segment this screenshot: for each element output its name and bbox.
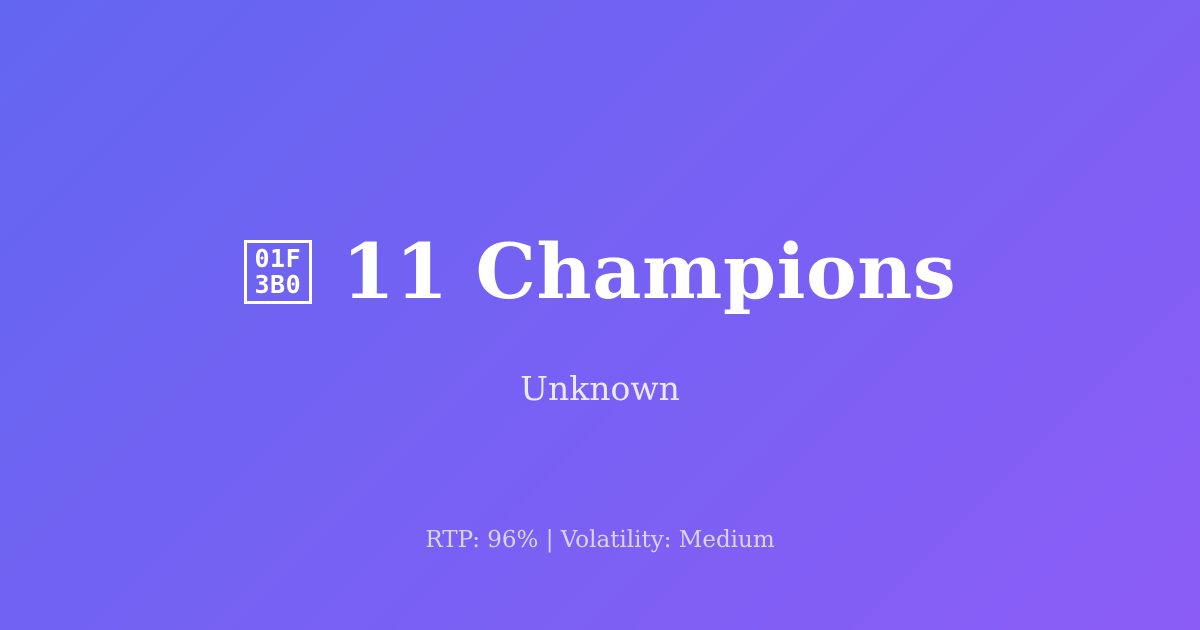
hero-block: 01F 3B0 11 Champions Unknown: [0, 222, 1200, 405]
game-meta-line: RTP: 96% | Volatility: Medium: [0, 528, 1200, 553]
slot-machine-icon-hex-bottom: 3B0: [254, 272, 301, 299]
game-og-card: 01F 3B0 11 Champions Unknown RTP: 96% | …: [0, 0, 1200, 630]
game-provider: Unknown: [520, 372, 680, 405]
slot-machine-icon-hex-top: 01F: [254, 246, 301, 273]
title-row: 01F 3B0 11 Champions: [244, 222, 956, 322]
slot-machine-icon: 01F 3B0: [244, 240, 312, 304]
game-title: 11 Champions: [342, 234, 956, 310]
